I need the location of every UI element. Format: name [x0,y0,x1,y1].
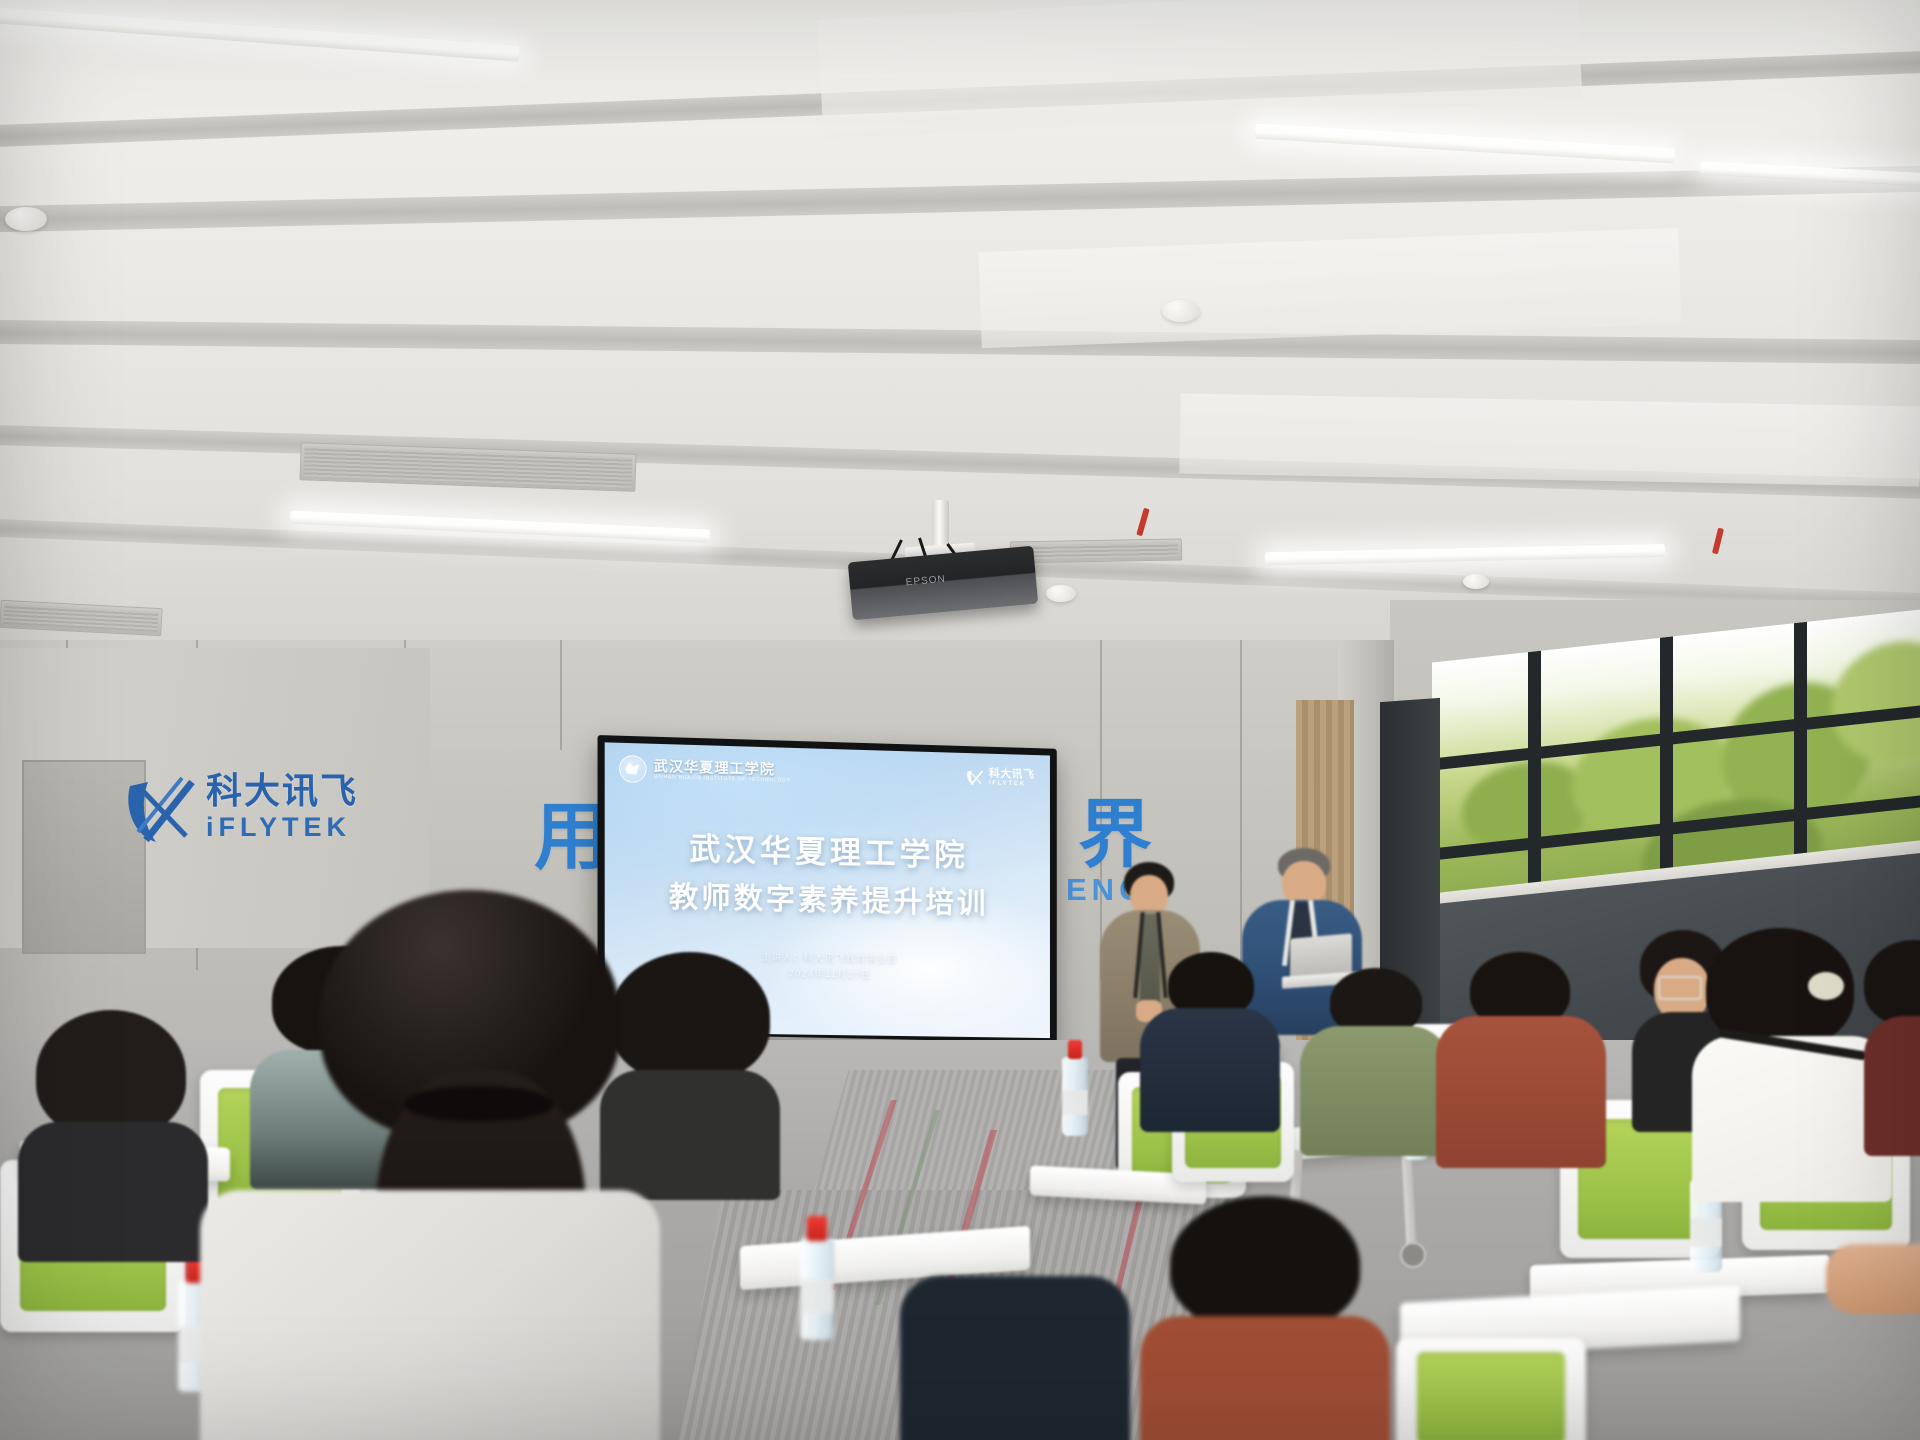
slide-iflytek-en: iFLYTEK [989,779,1034,788]
white-tweed-jacket [1692,1036,1892,1202]
ceiling-beam [0,320,1920,365]
air-vent [0,600,163,636]
dark-hair-woman-left [18,1010,208,1250]
chair[interactable] [1396,1338,1586,1440]
bottle-cap [1068,1040,1083,1059]
slide-title-line1: 武汉华夏理工学院 [605,821,1050,877]
smoke-detector [1046,585,1076,602]
ceiling-beam [0,165,1920,233]
navy-jacket-man [1140,952,1280,1122]
ceiling-light [1255,124,1675,164]
ceiling-light [1265,544,1665,565]
foreground-navy-person [900,1276,1130,1440]
bottle-label [1690,1218,1722,1247]
bottle-label [800,1280,834,1312]
rust-jacket [1436,1016,1606,1168]
sprinkler-pipe [1136,508,1149,537]
iflytek-wall-english: iFLYTEK [206,813,351,841]
wall-seam [560,640,562,750]
audience-hair [1864,940,1920,1026]
slide-title-line2: 教师数字素养提升培训 [605,872,1050,924]
rust-jacket-woman [1436,952,1606,1162]
olive-jacket-man [1300,968,1450,1148]
air-vent [1010,539,1182,564]
navy-jacket [1140,1008,1280,1132]
water-bottle[interactable] [800,1216,834,1340]
grey-hoodie [200,1190,660,1440]
wall-slogan-right-char: 界 [1078,798,1152,872]
foreground-dark-person [1140,1196,1390,1440]
olive-jacket [1300,1026,1450,1156]
ceiling-light [0,6,520,62]
white-tweed-woman [1692,928,1892,1188]
smoke-detector [1463,574,1489,589]
iflytek-wall-chinese: 科大讯飞 [206,772,358,810]
audience-top [1140,1316,1390,1440]
chair-green-pad [1417,1352,1565,1440]
audience-hair [1170,1196,1360,1332]
projector-brand-label: EPSON [905,574,946,589]
right-edge-person [1864,940,1920,1140]
ceiling-panel [817,0,1582,140]
iflytek-x-icon [122,774,200,848]
water-bottle[interactable] [1062,1040,1088,1136]
hair-scrunchie [1808,972,1844,1000]
audience-top [18,1122,208,1262]
slide-iflytek-logo: 科大讯飞 iFLYTEK [965,767,1034,789]
classroom-photo: EPSON 科大讯飞 iFLYTEK 用 界 ENCE 武汉华夏理工学院 [0,0,1920,1440]
audience-hand [1826,1244,1920,1314]
audience-hair [36,1010,186,1138]
university-seal-icon [619,755,647,783]
front-ponytail-woman [200,890,660,1440]
bottle-label [1062,1090,1088,1115]
slide-iflytek-x-icon [965,767,984,786]
audience-top [900,1276,1130,1440]
smoke-detector [5,207,47,231]
desk-caster [1400,1242,1426,1268]
sprinkler-pipe [1712,528,1724,555]
hair-tie [404,1086,554,1122]
slide-university-logo: 武汉华夏理工学院 WUHAN HUAXIA INSTITUTE OF TECHN… [619,755,791,787]
ceiling-panel [1179,394,1920,487]
ceiling-panel [979,228,1682,348]
smoke-detector [1162,300,1200,322]
iflytek-wall-logo: 科大讯飞 iFLYTEK [122,768,362,864]
bottle-cap [807,1216,826,1241]
audience-top [1864,1016,1920,1156]
